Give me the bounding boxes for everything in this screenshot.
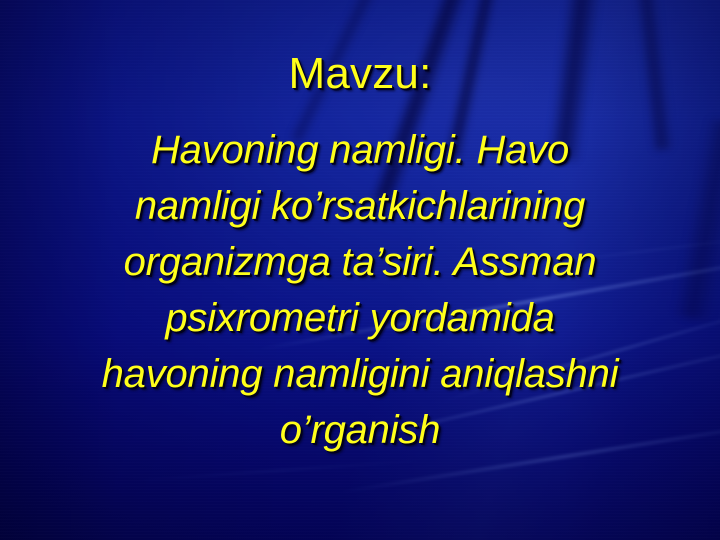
slide-body: Havoning namligi. Havo namligi ko’rsatki… — [8, 122, 712, 458]
body-line: Havoning namligi. Havo — [8, 122, 712, 178]
body-line: namligi ko’rsatkichlarining — [8, 178, 712, 234]
slide-title: Mavzu: — [0, 48, 720, 100]
body-line: psixrometri yordamida — [8, 290, 712, 346]
presentation-slide: Mavzu: Havoning namligi. Havo namligi ko… — [0, 0, 720, 540]
slide-content: Mavzu: Havoning namligi. Havo namligi ko… — [0, 0, 720, 540]
body-line: o’rganish — [8, 402, 712, 458]
body-line: organizmga ta’siri. Assman — [8, 234, 712, 290]
body-line: havoning namligini aniqlashni — [8, 346, 712, 402]
